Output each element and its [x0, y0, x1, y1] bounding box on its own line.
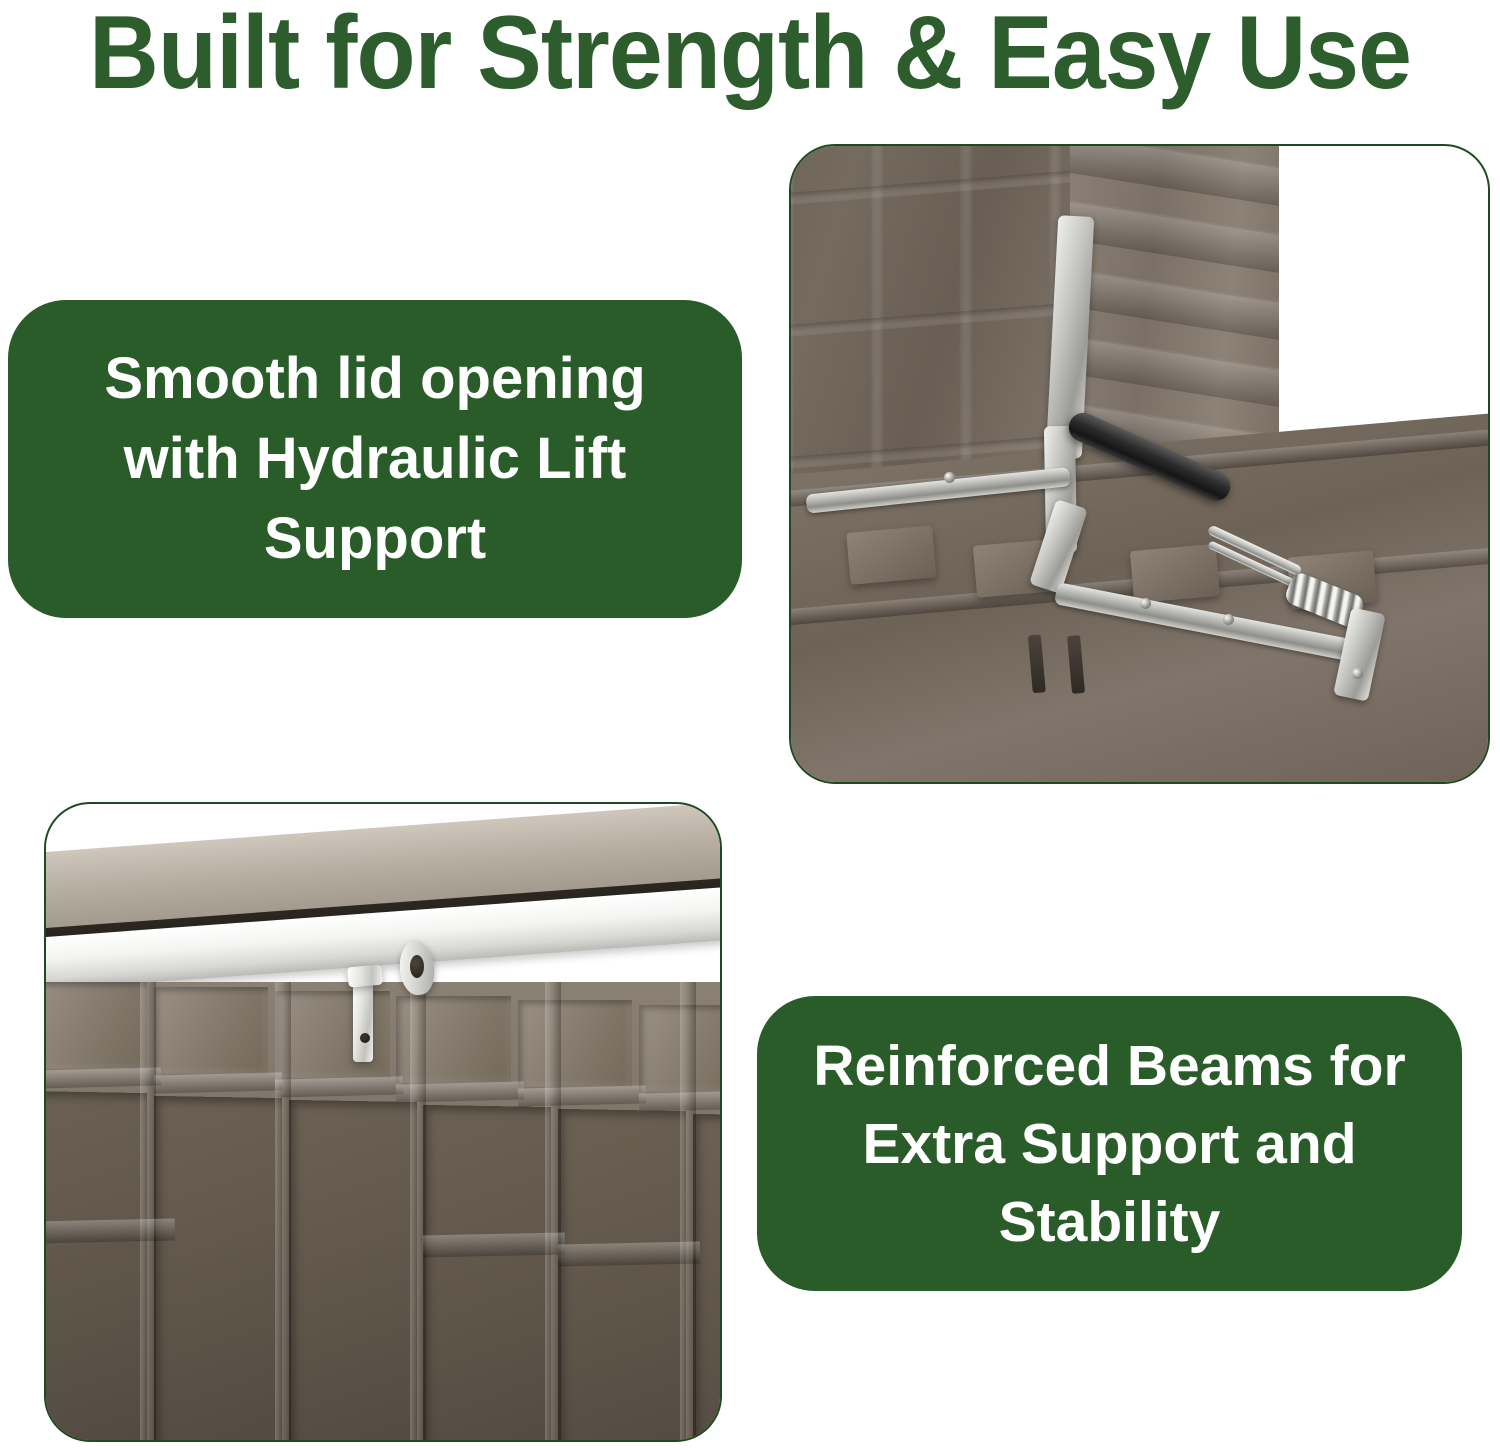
page-title: Built for Strength & Easy Use [53, 0, 1448, 112]
callout-reinforced-beams: Reinforced Beams for Extra Support and S… [757, 996, 1462, 1291]
reinforced-beams-scene [46, 804, 720, 1440]
rivet-icon [1352, 668, 1363, 679]
reinforced-beams-photo [44, 802, 722, 1442]
rivet-icon [1140, 598, 1151, 609]
callout-hydraulic-lift-text: Smooth lid opening with Hydraulic Lift S… [8, 339, 742, 579]
infographic-page: Built for Strength & Easy Use Smooth lid… [0, 0, 1500, 1450]
callout-reinforced-beams-text: Reinforced Beams for Extra Support and S… [757, 1027, 1462, 1261]
reinforced-beam-wall [46, 982, 720, 1440]
callout-hydraulic-lift: Smooth lid opening with Hydraulic Lift S… [8, 300, 742, 618]
rivet-icon [944, 472, 955, 483]
hinge-bracket-top [347, 965, 382, 988]
hydraulic-lift-scene [791, 146, 1488, 782]
hydraulic-lift-photo [789, 144, 1490, 784]
hinge-bracket-vertical [353, 979, 373, 1062]
